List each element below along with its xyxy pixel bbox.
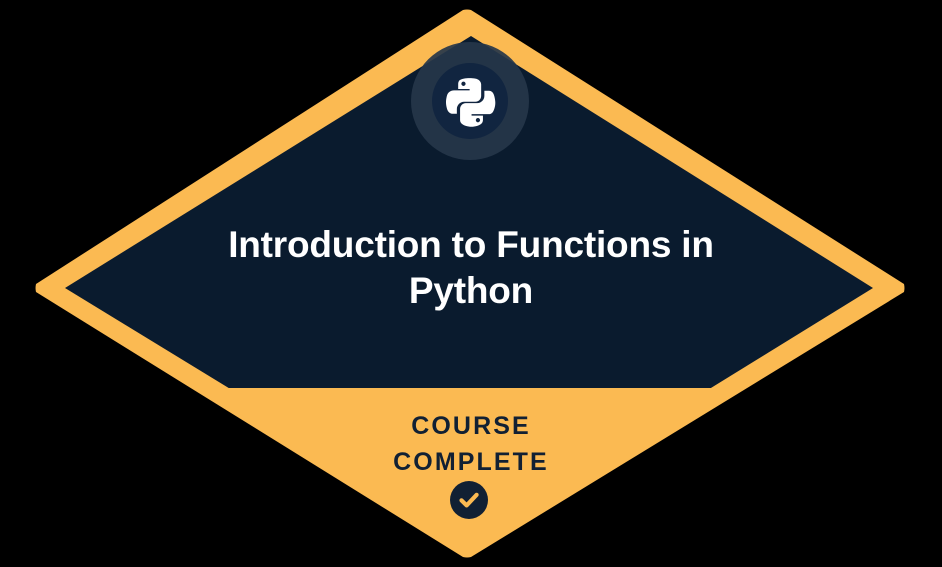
badge-diamond-shape [0, 0, 942, 567]
course-completion-badge: Introduction to Functions in Python COUR… [0, 0, 942, 567]
